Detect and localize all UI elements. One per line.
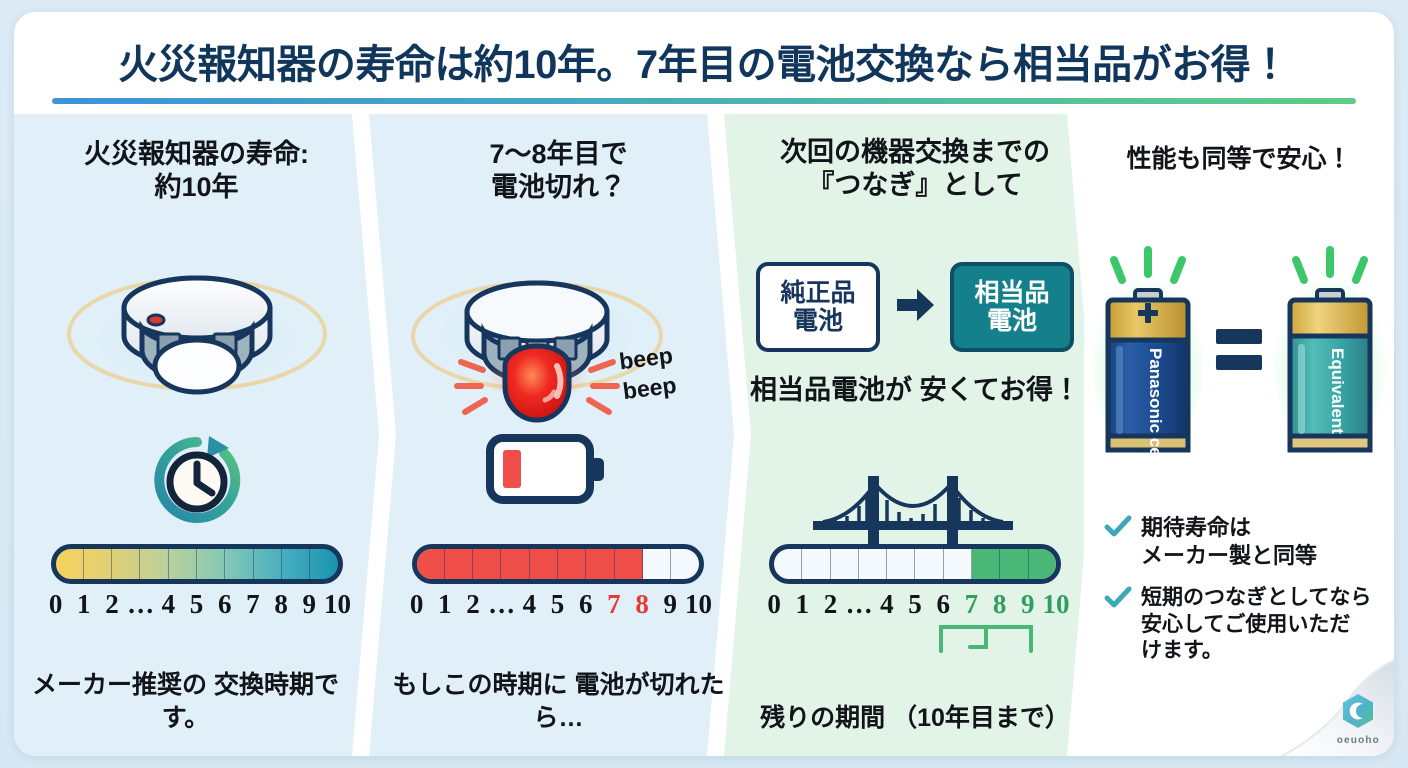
tick-label: 5: [182, 589, 210, 620]
scale-segment: [197, 549, 225, 579]
low-battery-icon: [486, 432, 606, 511]
scale-segment: [282, 549, 310, 579]
scale-segment: [56, 549, 84, 579]
panel-heading: 火災報知器の寿命: 約10年: [14, 114, 379, 204]
scale-segment: [310, 549, 337, 579]
panel-footer: メーカー推奨の 交換時期です。: [14, 669, 379, 734]
tick-label-highlight: 8: [628, 589, 656, 620]
tick-label-highlight: 9: [1014, 589, 1042, 620]
scale-segment: [84, 549, 112, 579]
scale-segment: [225, 549, 253, 579]
benefits-checklist: 期待寿命は メーカー製と同等 短期のつなぎとしてなら 安心してご使用いただ: [1104, 514, 1384, 681]
title-underline-rule: [52, 98, 1356, 104]
tick-label: 0: [760, 589, 788, 620]
scale-ticks: 0 1 2 … 4 5 6 7 8 9 10: [42, 589, 352, 620]
scale-segment: [254, 549, 282, 579]
scale-segment-filled: [1000, 549, 1028, 579]
tick-label: 2: [816, 589, 844, 620]
panel-heading: 次回の機器交換までの 『つなぎ』として: [724, 114, 1094, 202]
scale-group-depleted: 0 1 2 … 4 5 6 7 8 9 10: [369, 544, 734, 620]
scale-segment: [802, 549, 830, 579]
tick-label: 5: [543, 589, 571, 620]
hex-c-logo-icon: [1341, 716, 1375, 733]
infographic-root: 火災報知器の寿命は約10年。7年目の電池交換なら相当品がお得！ 火災報知器の寿命…: [0, 0, 1408, 768]
tick-label: 0: [403, 589, 431, 620]
scale-segment: [944, 549, 972, 579]
tick-label: 1: [431, 589, 459, 620]
scale-segment: [831, 549, 859, 579]
tick-label: 2: [98, 589, 126, 620]
arrow-right-icon: [893, 283, 937, 332]
scale-segment: [859, 549, 887, 579]
panel-background: [724, 114, 1094, 756]
scale-segment-filled: [530, 549, 558, 579]
tick-label: 4: [154, 589, 182, 620]
tick-label: 4: [515, 589, 543, 620]
battery-label: Panasonic cell: [1146, 348, 1165, 462]
scale-segment: [915, 549, 943, 579]
equals-sign-icon: [1216, 329, 1262, 370]
tick-label-highlight: 10: [1042, 589, 1070, 620]
battery-comparison: Panasonic cell: [1084, 224, 1394, 474]
check-icon: [1104, 514, 1132, 545]
scale-segment-filled: [501, 549, 529, 579]
equivalent-battery-box: 相当品 電池: [950, 262, 1074, 352]
tick-label: 9: [295, 589, 323, 620]
scale-segment-filled: [417, 549, 445, 579]
tick-label: 0: [42, 589, 70, 620]
checklist-item: 期待寿命は メーカー製と同等: [1104, 514, 1384, 569]
scale-group-lifespan: 0 1 2 … 4 5 6 7 8 9 10: [14, 544, 379, 620]
header: 火災報知器の寿命は約10年。7年目の電池交換なら相当品がお得！: [14, 12, 1394, 114]
tick-label: 6: [211, 589, 239, 620]
tick-label: 10: [684, 589, 712, 620]
scale-segment-filled: [558, 549, 586, 579]
panel-heading: 性能も同等で安心！: [1084, 114, 1394, 175]
scale-bar: [51, 544, 343, 584]
scale-segment: [643, 549, 671, 579]
battery-swap-flow: 純正品 電池 相当品 電池: [724, 262, 1094, 352]
check-icon: [1104, 585, 1132, 616]
battery-equivalent: Equivalent: [1274, 232, 1386, 467]
scale-ticks: 0 1 2 … 4 5 6 7 8 9 10: [403, 589, 713, 620]
suspension-bridge-icon: [813, 466, 1013, 549]
remaining-period-bracket: [938, 621, 1034, 662]
panel-lifespan: 火災報知器の寿命: 約10年: [14, 114, 379, 756]
scale-segment: [112, 549, 140, 579]
scale-group-remaining: 0 1 2 … 4 5 6 7 8 9 10: [724, 544, 1094, 620]
scale-segment-filled: [972, 549, 1000, 579]
scale-segment: [671, 549, 698, 579]
clock-refresh-icon: [149, 432, 245, 533]
tick-label-highlight: 8: [986, 589, 1014, 620]
tick-label: 6: [929, 589, 957, 620]
checklist-text: 期待寿命は メーカー製と同等: [1141, 514, 1317, 569]
scale-segment: [887, 549, 915, 579]
main-card: 火災報知器の寿命は約10年。7年目の電池交換なら相当品がお得！ 火災報知器の寿命…: [14, 12, 1394, 756]
tick-label: 6: [572, 589, 600, 620]
scale-segment-filled: [1029, 549, 1056, 579]
genuine-battery-box: 純正品 電池: [756, 262, 880, 352]
alarm-sound-text: beep beep: [618, 341, 679, 407]
checklist-item: 短期のつなぎとしてなら 安心してご使用いただ けます。: [1104, 585, 1384, 664]
tick-label: 9: [656, 589, 684, 620]
scale-bar: [769, 544, 1061, 584]
tick-label: 7: [239, 589, 267, 620]
tick-label-highlight: 7: [957, 589, 985, 620]
battery-panasonic: Panasonic cell: [1092, 232, 1204, 467]
scale-segment: [774, 549, 802, 579]
scale-segment-filled: [615, 549, 643, 579]
panel-footer: もしこの時期に 電池が切れたら…: [369, 669, 734, 734]
tick-label: 5: [901, 589, 929, 620]
tick-label: 10: [323, 589, 351, 620]
tick-label: 1: [70, 589, 98, 620]
scale-segment: [169, 549, 197, 579]
smoke-detector-icon: [52, 242, 342, 422]
panel-bridge-period: 次回の機器交換までの 『つなぎ』として 純正品 電池 相当品: [724, 114, 1094, 756]
scale-segment-filled: [473, 549, 501, 579]
tick-label: …: [845, 589, 873, 620]
panel-footer: 残りの期間 （10年目まで）: [724, 702, 1094, 735]
tick-label-highlight: 7: [600, 589, 628, 620]
scale-segment: [140, 549, 168, 579]
checklist-text: 短期のつなぎとしてなら 安心してご使用いただ けます。: [1141, 585, 1371, 664]
scale-segment-filled: [445, 549, 473, 579]
tick-label: 8: [267, 589, 295, 620]
panel-strip: 火災報知器の寿命: 約10年: [14, 114, 1394, 756]
tick-label: …: [126, 589, 154, 620]
panel-heading: 7〜8年目で 電池切れ？: [369, 114, 734, 204]
brand-logo: oeuoho: [1337, 693, 1380, 746]
panel-battery-dead: 7〜8年目で 電池切れ？: [369, 114, 734, 756]
scale-segment-filled: [586, 549, 614, 579]
savings-note: 相当品電池が 安くてお得！: [724, 374, 1094, 407]
battery-label: Equivalent: [1328, 348, 1347, 434]
tick-label: …: [487, 589, 515, 620]
tick-label: 2: [459, 589, 487, 620]
tick-label: 4: [873, 589, 901, 620]
logo-wordmark: oeuoho: [1337, 735, 1380, 746]
scale-bar: [412, 544, 704, 584]
page-title: 火災報知器の寿命は約10年。7年目の電池交換なら相当品がお得！: [14, 32, 1394, 90]
tick-label: 1: [788, 589, 816, 620]
scale-ticks: 0 1 2 … 4 5 6 7 8 9 10: [760, 589, 1070, 620]
